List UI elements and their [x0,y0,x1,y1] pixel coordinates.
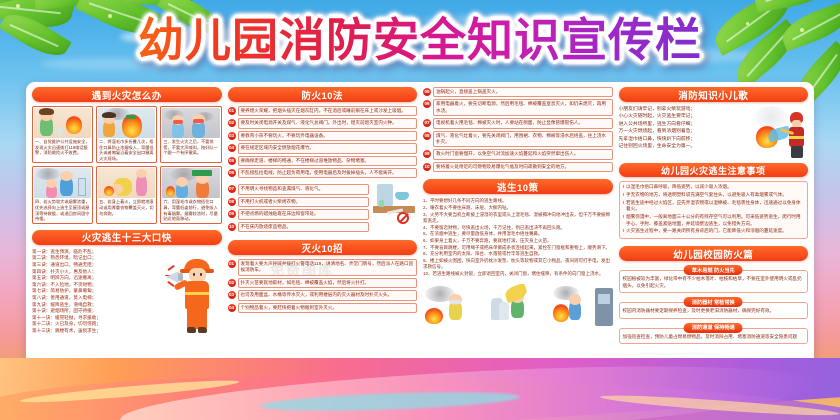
list-item: 第七诀：简易防护，蒙鼻匍匐； [32,288,168,295]
item-number: 09 [423,150,431,158]
fireman-mascot-illustration [170,249,222,369]
item-number: 04 [228,304,236,312]
list-item: 01 要养熄火荣耀，把烟头插灭在烟灰缸内，不在酒后或睡前躺在床上或沙发上吸烟。 [228,106,418,116]
list-item: 05 要确保走道、楼梯的畅通，不在楼梯过道堆放物品、杂物堵塞。 [228,156,418,166]
section-header-fire-prevention-10: 防火10法 [228,87,418,102]
picture-cell: 一、自觉维护公共设施安全，发现火灾迅速拨打119电话报警，消防救险火不收费。 [32,106,93,163]
item-number: 05 [423,88,431,96]
item-text: 要养熄火荣耀，把烟头插灭在烟灰缸内，不在酒后或睡前躺在床上或沙发上吸烟。 [238,106,418,116]
picture-grid: 一、自觉维护公共设施安全，发现火灾迅速拨打119电话报警，消防救险火不收费。 二… [32,106,222,224]
list-item: 第十三诀：跳楼有术，虽损求生； [32,328,168,335]
exclamation-icon: ! [623,214,625,227]
escape-strategy-list: 1、平时要想好几条不同方向的逃生路线。 2、睡衣着火不要往床跑、床屉、大橱内钻。… [423,198,613,277]
picture-caption: 三、发生火灾之后，不要惊慌，不要大声喊叫，按好队一个跟一个有序撤离。 [162,138,219,156]
list-item: 06 不乱接乱拉电线，防止超负荷用电，使用电器后及时拔掉插头，人不能离开。 [228,168,418,178]
exclamation-icon: ! [623,200,625,213]
item-text: 不乱接乱拉电线，防止超负荷用电，使用电器后及时拔掉插头，人不能离开。 [238,168,418,178]
subcard-text: 加强巡查检查，预防儿童占燃易燃物品，及时消除占用、堵塞消防通道等安全隐患问题 [623,334,805,340]
item-text: 要在规定区域内安全燃放烟花爆竹。 [238,143,418,153]
subcard-tag: 草木易燃 防火当先 [684,265,743,275]
section-header-fire-song: 消防知识小儿歌 [619,87,809,102]
item-number: 08 [228,198,236,206]
list-item: 第二诀：熟悉环境，暗记出口； [32,255,168,262]
item-text: 发现着火要大声呼喊并拨打火警电话119，讲清地名、弄堂门牌号，然后派人在路口迎候… [238,259,418,276]
item-number: 08 [423,132,431,140]
scene-illustration [162,168,219,198]
picture-cell: 五、若身上着火，立即就地滚动或用厚重衣物覆盖灭火，切勿奔跑。 [96,166,157,223]
list-item: 09 救火时门窗要慢开，以免空气对流加速火焰蔓延和火焰突然窜出伤人。 [423,149,613,159]
section-header-what-to-do: 遇到火灾怎么办 [32,87,222,102]
item-text: 也可及用面盆、水桶等传水灭火，或利用楼层内的灭火器材及时扑灭火头。 [238,290,418,300]
item-text: 救火时门窗要慢开，以免空气对流加速火焰蔓延和火焰突然窜出伤人。 [433,149,613,159]
item-number: 10 [228,223,236,231]
list-item: 03 也可及用面盆、水桶等传水灭火，或利用楼层内的灭火器材及时扑灭火头。 [228,290,418,300]
list-item: 第三诀：通道出口，畅通无阻； [32,262,168,269]
list-item: 07 电视机着火用毛毯、棉被灭火时，人要站在侧面，防止显像管爆裂伤人。 [423,118,613,128]
list-item: 10、若逃生路线被火封锁，立即退回室内，关闭门窗，堵住缝隙，有条件的向门窗上浇水… [423,271,613,277]
item-number: 01 [228,260,236,268]
escape-illustrations [423,284,613,326]
list-item: 9、楼上如被火围困，快向室外扔枕沙发垫、枕头等软物或其它小物品，夜间则可打手电，… [423,258,613,270]
list-item: 04 要在规定区域内安全燃放烟花爆竹。 [228,143,418,153]
picture-caption: 六、用湿毛巾或衣物捂住口鼻，弯腰低姿前行，避免吸入有毒烟雾。烟雾较浓时，尽量贴近… [162,198,219,221]
item-text: 不在床内放烧废品物品。 [238,222,370,232]
note-item: ! 若逃生途中经过火焰区，应先弄湿衣物或以湿棉被、毛毯裹住身体，迅速通过以免身体… [623,200,805,213]
picture-cell: 二、将湿毛巾多折叠几次，捂住口鼻防止浓烟吸入，弯腰低头或者匍匐沿着安全出口撤离火… [96,106,157,163]
picture-caption: 一、自觉维护公共设施安全，发现火灾迅速拨打119电话报警，消防救险火不收费。 [34,138,91,156]
picture-caption: 四、若火势较大或烟雾浓重，优先选择向上逃生至屋顶或屋顶等待救援，或退回房间固守待… [34,198,91,221]
section-header-escape-notes: 幼儿园火灾逃生注意事项 [619,163,809,177]
list-item: 06 家用电器着火，要先切断电源，然后用毛毯、棉被覆盖窒息灭火，如仍未熄灭，再用… [423,99,613,116]
item-number: 03 [228,132,236,140]
picture-cell: 六、用湿毛巾或衣物捂住口鼻，弯腰低姿前行，避免吸入有毒烟雾。烟雾较浓时，尽量贴近… [160,166,221,223]
item-text: 扑灭火苗要就地取材，如毛毯、棉被覆盖火焰，然后将火扑打。 [238,278,418,288]
escape-tips-list: 第一诀：逃生预演，临危不乱； 第二诀：熟悉环境，暗记出口； 第三诀：通道出口，畅… [32,249,168,369]
list-item: 3、火势不大要当机立断披上浸湿的衣里或头上湿毛毯、湿被褥冲向地冲出去，但千万不要… [423,212,613,224]
item-text: 油锅起火，直接盖上锅盖灭火。 [433,87,613,97]
list-item: 5、在浓烟中逃生，要尽量放低身体，并用湿毛巾捂住嘴鼻。 [423,231,613,237]
item-number: 04 [228,144,236,152]
fire-song-block: 小朋友们请牢记，别拿火柴玩游戏； 小心火灾随时起，火灾逃生要牢记； 进入公共场所… [619,106,809,158]
note-text: 若逃生途中经过火焰区，应先弄湿衣物或以湿棉被、毛毯裹住身体，迅速通过以免身体着火… [626,200,804,213]
lyric-line: 记住别回火场里，生命安全为第一。 [619,143,750,150]
scene-illustration [34,108,91,138]
item-text: 不用明火寻找物品和查漏煤气、液化气。 [238,184,370,194]
firefighter-hose-illustration [752,106,808,158]
list-item: 08 不用打火机或者火柴烤衣物。 [228,197,370,207]
content-board: 遇到火灾怎么办 一、自觉维护公共设施安全，发现火灾迅速拨打119电话报警，消防救… [26,82,814,374]
subcard-text: 校园内消防器材要定期保养检查，及时更换老旧消防器材，确保完好有效。 [623,308,805,314]
picture-caption: 五、若身上着火，立即就地滚动或用厚重衣物覆盖灭火，切勿奔跑。 [98,198,155,216]
item-number: 07 [228,185,236,193]
column-fire-prevention: 防火10法 01 要养熄火荣耀，把烟头插灭在烟灰缸内，不在酒后或睡前躺在床上或沙… [228,87,418,369]
item-number: 02 [228,119,236,127]
note-text: 以湿毛巾捂口鼻呼吸，降低姿势，以减少吸入浓烟。 [626,184,732,190]
item-number: 06 [423,100,431,108]
item-number: 03 [228,291,236,299]
section-header-extinguish-10: 灭火10招 [228,240,418,255]
poster-canvas: 幼儿园消防安全知识宣传栏 遇到火灾怎么办 一、自觉维护公共设施安全，发现火灾迅速… [0,0,840,420]
list-item: 第八诀：善用通道，莫入电梯； [32,295,168,302]
fire-prevention-list-lower: 07 不用明火寻找物品和查漏煤气、液化气。 08 不用打火机或者火柴烤衣物。 0… [228,184,418,234]
note-item: ! 手无衣物的地方，将透明塑料袋充满空气套住头，以避免吸入有毒烟雾或气体。 [623,192,805,198]
note-text: 手无衣物的地方，将透明塑料袋充满空气套住头，以避免吸入有毒烟雾或气体。 [626,192,787,198]
list-item: 08 煤气、液化气灶着火，要先关闭阀门，用围裙、衣物、棉被等浸水后捂盖，往上浇水… [423,131,613,148]
list-item: 01 发现着火要大声呼喊并拨打火警电话119，讲清地名、弄堂门牌号，然后派人在路… [228,259,418,276]
item-number: 07 [423,119,431,127]
subcard-text: 校园植被较为丰富，绿化带中有不少枯木落叶、枯枝和枯草，不要在室外使用明火或乱扔烟… [623,276,805,289]
list-item: 10 要将着火处附近的可燃物及易爆化气瓶及时向疏散到安全的地方。 [423,162,613,172]
list-item: 第五诀：明辨方向，迅速撤离； [32,275,168,282]
list-item: 02 要及时关闭电源开关及煤气、液化气总阀门。外出时，熄灭前熄灭室内火种。 [228,118,418,128]
item-text: 不用打火机或者火柴烤衣物。 [238,197,370,207]
item-text: 要确保走道、楼梯的畅通，不在楼梯过道堆放物品、杂物堵塞。 [238,156,418,166]
lyric-line: 万一火灾燃烧起，看到浓烟别着急； [619,128,750,135]
scene-illustration [487,284,548,326]
section-header-13-escape-tips: 火灾逃生十三大口快 [32,230,222,245]
column-what-to-do: 遇到火灾怎么办 一、自觉维护公共设施安全，发现火灾迅速拨打119电话报警，消防救… [32,87,222,369]
exclamation-icon: ! [623,184,625,190]
lyric-line: 小朋友们请牢记，别拿火柴玩游戏； [619,106,750,113]
item-number: 10 [423,163,431,171]
exclamation-icon: ! [623,192,625,198]
list-item: 8、充分利用室内的太阳、阳台、水落管或竹竿等逃生自救。 [423,251,613,257]
fire-prevention-list: 01 要养熄火荣耀，把烟头插灭在烟灰缸内，不在酒后或睡前躺在床上或沙发上吸烟。 … [228,106,418,180]
page-title: 幼儿园消防安全知识宣传栏 [0,12,840,68]
exclamation-icon: ! [623,228,625,234]
bottom-ribbon-decoration [0,358,840,420]
item-text: 要将着火处附近的可燃物及易爆化气瓶及时向疏散到安全的地方。 [433,162,613,172]
scene-illustration [551,284,612,326]
list-item: 1、平时要想好几条不同方向的逃生路线。 [423,198,613,204]
kitchen-illustration [371,184,417,234]
list-item: 03 要教育小孩不要玩火，不要玩弄电器设备。 [228,131,418,141]
list-item: 05 油锅起火，直接盖上锅盖灭火。 [423,87,613,97]
list-item: 02 扑灭火苗要就地取材，如毛毯、棉被覆盖火焰，然后将火扑打。 [228,278,418,288]
item-text: 要及时关闭电源开关及煤气、液化气总阀门。外出时，熄灭前熄灭室内火种。 [238,118,418,128]
school-subcard: 草木易燃 防火当先 校园植被较为丰富，绿化带中有不少枯木落叶、枯枝和枯草，不要在… [619,270,809,293]
extinguish-list: 01 发现着火要大声呼喊并拨打火警电话119，讲清地名、弄堂门牌号，然后派人在路… [228,259,418,315]
note-text: 火灾逃生过程中，要一路关闭所有身背后的门，它能降低火和浓烟的蔓延速度。 [626,228,787,234]
item-number: 06 [228,169,236,177]
scene-illustration [162,108,219,138]
picture-caption: 二、将湿毛巾多折叠几次，捂住口鼻防止浓烟吸入，弯腰低头或者匍匐沿着安全出口撤离火… [98,138,155,161]
lyric-line: 进入公共场所里，逃生方向看仔细； [619,121,750,128]
item-number: 02 [228,279,236,287]
item-number: 05 [228,157,236,165]
scene-illustration [423,284,484,326]
list-item: 2、睡衣着火不要往床跑、床屉、大橱内钻。 [423,205,613,211]
list-item: 第十二诀：火已及身，切勿惊跑； [32,321,168,328]
picture-cell: 四、若火势较大或烟雾浓重，优先选择向上逃生至屋顶或屋顶等待救援，或退回房间固守待… [32,166,93,223]
lyric-line: 小心火灾随时起，火灾逃生要牢记； [619,113,750,120]
item-text: 不把点燃的蜡烛贴靠在床边和窗帘处。 [238,209,370,219]
list-item: 07 不用明火寻找物品和查漏煤气、液化气。 [228,184,370,194]
school-subcard: 消防通道 保持畅通 加强巡查检查，预防儿童占燃易燃物品，及时消除占用、堵塞消防通… [619,328,809,344]
scene-illustration [98,168,155,198]
note-item: ! 以湿毛巾捂口鼻呼吸，降低姿势，以减少吸入浓烟。 [623,184,805,190]
subcard-tag: 消防器材 常检常换 [684,297,743,307]
escape-notes-card: ! 以湿毛巾捂口鼻呼吸，降低姿势，以减少吸入浓烟。 ! 手无衣物的地方，将透明塑… [619,181,809,239]
list-item: 第十诀：避烟场所，固守待援； [32,308,168,315]
note-text: 烟雾弥漫中，一般离地面三十公分的有残存空气可以利用。可采低姿势逃生，爬行时用手心… [626,214,804,227]
list-item: 7、不要盲目跳楼，可用绳子或把床单撕成条状连接起来，紧拴在门窗框和重物上，顺势滑… [423,245,613,251]
list-item: 04 个别物品着火，要赶快把着火物搬到室外灭火。 [228,303,418,313]
item-text: 个别物品着火，要赶快把着火物搬到室外灭火。 [238,303,418,313]
section-header-school-prevention: 幼儿园校园防火篇 [619,246,809,261]
extinguish-list-continued: 05 油锅起火，直接盖上锅盖灭火。 06 家用电器着火，要先切断电源，然后用毛毯… [423,87,613,174]
column-song-and-school: 消防知识小儿歌 小朋友们请牢记，别拿火柴玩游戏； 小心火灾随时起，火灾逃生要牢记… [619,87,809,369]
column-escape-strategies: 05 油锅起火，直接盖上锅盖灭火。 06 家用电器着火，要先切断电源，然后用毛毯… [423,87,613,369]
scene-illustration [34,168,91,198]
escape-tips-block: 第一诀：逃生预演，临危不乱； 第二诀：熟悉环境，暗记出口； 第三诀：通道出口，畅… [32,249,222,369]
item-text: 家用电器着火，要先切断电源，然后用毛毯、棉被覆盖窒息灭火，如仍未熄灭，再用水浇。 [433,99,613,116]
list-item: 09 不把点燃的蜡烛贴靠在床边和窗帘处。 [228,209,370,219]
note-item: ! 烟雾弥漫中，一般离地面三十公分的有残存空气可以利用。可采低姿势逃生，爬行时用… [623,214,805,227]
item-number: 09 [228,210,236,218]
list-item: 4、不要留恋财物，尽快逃出火场，千万记住，别已逃出决不再回头跑。 [423,225,613,231]
school-subcard: 消防器材 常检常换 校园内消防器材要定期保养检查，及时更换老旧消防器材，确保完好… [619,302,809,318]
scene-illustration [98,108,155,138]
fire-song-lyrics: 小朋友们请牢记，别拿火柴玩游戏； 小心火灾随时起，火灾逃生要牢记； 进入公共场所… [619,106,750,150]
subcard-tag: 消防通道 保持畅通 [684,323,743,333]
note-item: ! 火灾逃生过程中，要一路关闭所有身背后的门，它能降低火和浓烟的蔓延速度。 [623,228,805,234]
lyric-line: 先拿湿巾捂口鼻，快快趴下向前移； [619,136,750,143]
picture-cell: 三、发生火灾之后，不要惊慌，不要大声喊叫，按好队一个跟一个有序撤离。 [160,106,221,163]
item-number: 01 [228,107,236,115]
list-item: 10 不在床内放烧废品物品。 [228,222,370,232]
item-text: 要教育小孩不要玩火，不要玩弄电器设备。 [238,131,418,141]
list-item: 6、如果身上着火，千万不要奔跑，要就地打滚，压灭身上火苗。 [423,238,613,244]
item-text: 电视机着火用毛毯、棉被灭火时，人要站在侧面，防止显像管爆裂伤人。 [433,118,613,128]
item-text: 煤气、液化气灶着火，要先关闭阀门，用围裙、衣物、棉被等浸水后捂盖，往上浇水扑灭。 [433,131,613,148]
section-header-escape-10: 逃生10策 [423,179,613,194]
